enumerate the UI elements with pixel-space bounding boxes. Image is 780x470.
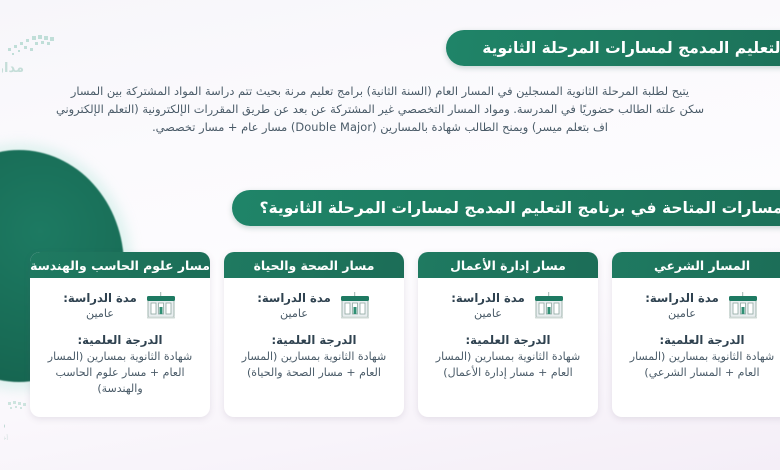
duration-row: مدة الدراسة: عامين bbox=[234, 290, 394, 322]
intro-paragraph: يتيح لطلبة المرحلة الثانوية المسجلين في … bbox=[0, 82, 772, 136]
duration-value: عامين bbox=[257, 306, 331, 322]
track-card-title: مسار إدارة الأعمال bbox=[418, 252, 598, 278]
school-building-icon bbox=[533, 291, 565, 321]
intro-line-3-after: ) مسار عام + مسار تخصصي. bbox=[152, 120, 295, 134]
duration-value: عامين bbox=[645, 306, 719, 322]
degree-value: شهادة الثانوية بمسارين (المسار العام + ا… bbox=[622, 349, 780, 381]
intro-line-1: يتيح لطلبة المرحلة الثانوية المسجلين في … bbox=[0, 82, 772, 100]
school-building-icon bbox=[339, 291, 371, 321]
track-card-business[interactable]: مسار إدارة الأعمال مدة الدراسة: bbox=[418, 252, 598, 417]
track-card-computer-engineering[interactable]: مسار علوم الحاسب والهندسة مدة الدرا bbox=[30, 252, 210, 417]
track-card-title: مسار علوم الحاسب والهندسة bbox=[30, 252, 210, 278]
duration-value: عامين bbox=[63, 306, 137, 322]
track-card-sharia[interactable]: المسار الشرعي مدة الدراسة: bbox=[612, 252, 780, 417]
duration-text-block: مدة الدراسة: عامين bbox=[257, 290, 331, 322]
header-banner-question: المسارات المتاحة في برنامج التعليم المدم… bbox=[232, 190, 780, 226]
degree-block: الدرجة العلمية: شهادة الثانوية بمسارين (… bbox=[428, 332, 588, 381]
duration-row: مدة الدراسة: عامين bbox=[40, 290, 200, 322]
tracks-card-row: المسار الشرعي مدة الدراسة: bbox=[30, 252, 780, 417]
school-building-icon bbox=[727, 291, 759, 321]
degree-label: الدرجة العلمية: bbox=[234, 332, 394, 348]
degree-value: شهادة الثانوية بمسارين (المسار العام + م… bbox=[40, 349, 200, 397]
track-card-title: المسار الشرعي bbox=[612, 252, 780, 278]
svg-text:مدار: مدار bbox=[4, 414, 6, 432]
degree-block: الدرجة العلمية: شهادة الثانوية بمسارين (… bbox=[40, 332, 200, 397]
duration-text-block: مدة الدراسة: عامين bbox=[63, 290, 137, 322]
duration-value: عامين bbox=[451, 306, 525, 322]
svg-text:مدار: مدار bbox=[2, 61, 24, 76]
degree-label: الدرجة العلمية: bbox=[40, 332, 200, 348]
degree-block: الدرجة العلمية: شهادة الثانوية بمسارين (… bbox=[234, 332, 394, 381]
intro-line-2: سكن علته الطالب حضوريًا في المدرسة. وموا… bbox=[0, 100, 772, 118]
double-major-term: Double Major bbox=[295, 120, 372, 134]
degree-label: الدرجة العلمية: bbox=[622, 332, 780, 348]
track-card-title: مسار الصحة والحياة bbox=[224, 252, 404, 278]
degree-label: الدرجة العلمية: bbox=[428, 332, 588, 348]
duration-label: مدة الدراسة: bbox=[63, 290, 137, 306]
track-card-body: مدة الدراسة: عامين الدرجة العلمية: شهادة… bbox=[224, 278, 404, 410]
intro-line-3: اف بتعلم ميسر) ويمنح الطالب شهادة بالمسا… bbox=[0, 118, 772, 136]
infographic-canvas: مدار مدار أخبار التعليم التعليم المدمج ل… bbox=[0, 0, 780, 470]
track-card-body: مدة الدراسة: عامين الدرجة العلمية: شهادة… bbox=[30, 278, 210, 417]
degree-value: شهادة الثانوية بمسارين (المسار العام + م… bbox=[428, 349, 588, 381]
school-building-icon bbox=[145, 291, 177, 321]
duration-row: مدة الدراسة: عامين bbox=[622, 290, 780, 322]
duration-text-block: مدة الدراسة: عامين bbox=[451, 290, 525, 322]
degree-block: الدرجة العلمية: شهادة الثانوية بمسارين (… bbox=[622, 332, 780, 381]
header-banner-main: التعليم المدمج لمسارات المرحلة الثانوية bbox=[446, 30, 780, 66]
duration-row: مدة الدراسة: عامين bbox=[428, 290, 588, 322]
degree-value: شهادة الثانوية بمسارين (المسار العام + م… bbox=[234, 349, 394, 381]
duration-label: مدة الدراسة: bbox=[451, 290, 525, 306]
duration-label: مدة الدراسة: bbox=[645, 290, 719, 306]
duration-label: مدة الدراسة: bbox=[257, 290, 331, 306]
track-card-health[interactable]: مسار الصحة والحياة مدة الدراسة: bbox=[224, 252, 404, 417]
duration-text-block: مدة الدراسة: عامين bbox=[645, 290, 719, 322]
track-card-body: مدة الدراسة: عامين الدرجة العلمية: شهادة… bbox=[418, 278, 598, 410]
watermark-logo-top: مدار bbox=[2, 26, 80, 90]
track-card-body: مدة الدراسة: عامين الدرجة العلمية: شهادة… bbox=[612, 278, 780, 410]
svg-text:أخبار التعليم: أخبار التعليم bbox=[4, 434, 8, 442]
intro-line-3-before: اف بتعلم ميسر) ويمنح الطالب شهادة بالمسا… bbox=[372, 120, 608, 134]
